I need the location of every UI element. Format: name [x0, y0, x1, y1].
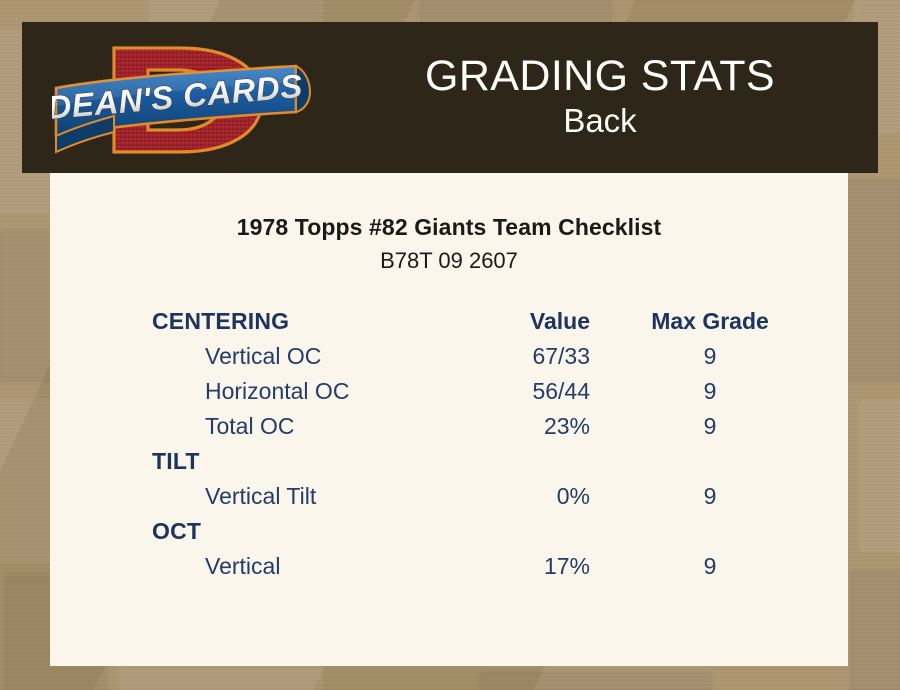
- column-header-max-grade: Max Grade: [610, 308, 810, 335]
- section-header-oct: OCT: [50, 518, 848, 553]
- row-value: 17%: [390, 553, 590, 580]
- table-row: Vertical 17% 9: [50, 553, 848, 588]
- table-row: Horizontal OC 56/44 9: [50, 378, 848, 413]
- row-max-grade: 9: [610, 343, 810, 370]
- card-title: 1978 Topps #82 Giants Team Checklist: [50, 214, 848, 241]
- header-text-group: GRADING STATS Back: [322, 22, 878, 173]
- table-row: Vertical OC 67/33 9: [50, 343, 848, 378]
- row-label: Horizontal OC: [205, 378, 349, 405]
- row-label: Total OC: [205, 413, 294, 440]
- header-bar: DEAN'S CARDS GRADING STATS Back: [22, 22, 878, 173]
- deans-cards-logo: DEAN'S CARDS: [52, 30, 322, 170]
- grading-stats-table: CENTERING Value Max Grade Vertical OC 67…: [50, 308, 848, 588]
- row-max-grade: 9: [610, 483, 810, 510]
- backdrop-card-block: [845, 180, 900, 382]
- table-header-row: CENTERING Value Max Grade: [50, 308, 848, 343]
- row-label: Vertical OC: [205, 343, 321, 370]
- row-max-grade: 9: [610, 378, 810, 405]
- section-label: OCT: [152, 518, 201, 545]
- backdrop-card-block: [480, 672, 712, 690]
- row-value: 23%: [390, 413, 590, 440]
- section-label: TILT: [152, 448, 200, 475]
- card-serial-number: B78T 09 2607: [50, 248, 848, 274]
- row-label: Vertical: [205, 553, 280, 580]
- backdrop-card-block: [850, 570, 900, 690]
- table-row: Vertical Tilt 0% 9: [50, 483, 848, 518]
- stats-panel: 1978 Topps #82 Giants Team Checklist B78…: [50, 173, 848, 666]
- row-max-grade: 9: [610, 553, 810, 580]
- row-value: 0%: [390, 483, 590, 510]
- section-header-tilt: TILT: [50, 448, 848, 483]
- column-header-category: CENTERING: [152, 308, 289, 335]
- row-value: 67/33: [390, 343, 590, 370]
- backdrop-card-block: [860, 400, 900, 552]
- page-title: GRADING STATS: [425, 54, 775, 99]
- row-label: Vertical Tilt: [205, 483, 316, 510]
- row-max-grade: 9: [610, 413, 810, 440]
- row-value: 56/44: [390, 378, 590, 405]
- page-subtitle: Back: [563, 100, 636, 141]
- table-row: Total OC 23% 9: [50, 413, 848, 448]
- backdrop-card-block: [120, 668, 322, 690]
- column-header-value: Value: [390, 308, 590, 335]
